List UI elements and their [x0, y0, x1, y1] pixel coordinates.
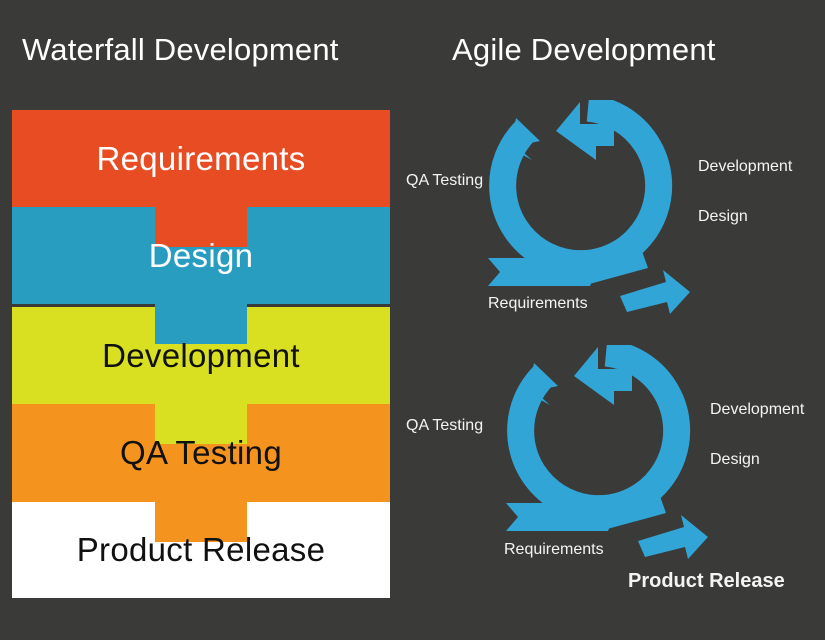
agile-label-product-release: Product Release [628, 570, 785, 593]
agile-label-requirements: Requirements [504, 541, 604, 559]
agile-label-development: Development [698, 158, 792, 176]
agile-cycle-arrow-icon [488, 345, 723, 560]
agile-panel-title: Agile Development [452, 32, 716, 68]
diagram-canvas: Waterfall Development Agile Development … [0, 0, 825, 640]
agile-label-qa-testing: QA Testing [406, 417, 483, 435]
waterfall-chevron-icon [155, 502, 247, 542]
waterfall-stage-requirements[interactable]: Requirements [12, 110, 390, 207]
waterfall-chevron-icon [155, 404, 247, 444]
waterfall-chevron-icon [155, 207, 247, 247]
agile-label-design: Design [698, 208, 748, 226]
agile-label-development: Development [710, 401, 804, 419]
agile-cycle-two: QA Testing Development Design Requiremen… [488, 345, 723, 560]
agile-label-requirements: Requirements [488, 295, 588, 313]
agile-cycle-arrow-icon [470, 100, 705, 315]
agile-label-design: Design [710, 451, 760, 469]
waterfall-stack: Requirements Design Development QA Testi… [12, 110, 390, 598]
waterfall-stage-label: Requirements [96, 140, 305, 178]
agile-cycle-one: QA Testing Development Design Requiremen… [470, 100, 705, 315]
agile-label-qa-testing: QA Testing [406, 172, 483, 190]
waterfall-panel-title: Waterfall Development [22, 32, 339, 68]
waterfall-chevron-icon [155, 304, 247, 344]
